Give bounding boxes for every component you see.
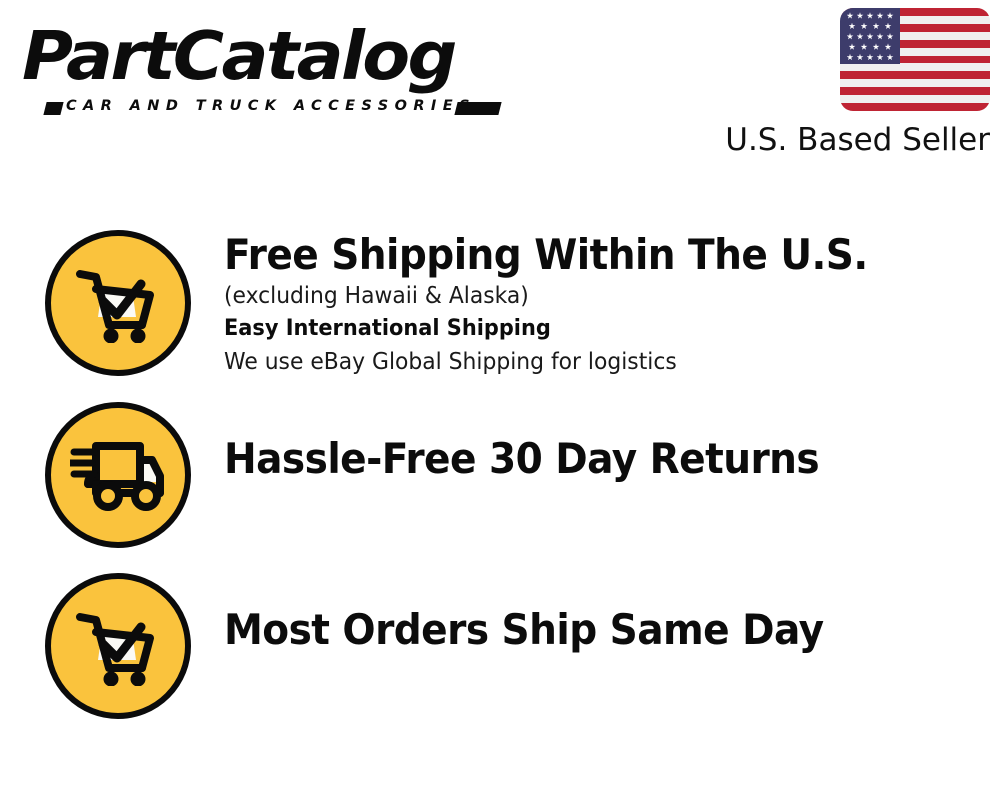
flag-star bbox=[861, 23, 868, 30]
feature-text-block: Free Shipping Within The U.S. (excluding… bbox=[224, 230, 1000, 378]
shopping-cart-check-icon bbox=[45, 230, 191, 376]
flag-star bbox=[873, 43, 880, 50]
flag-star bbox=[887, 12, 894, 19]
flag-star bbox=[867, 33, 874, 40]
flag-star bbox=[885, 43, 892, 50]
brand-wordmark: PartCatalog bbox=[22, 20, 511, 92]
feature-row: Hassle-Free 30 Day Returns bbox=[0, 402, 1000, 548]
flag-star bbox=[867, 54, 874, 61]
feature-title: Most Orders Ship Same Day bbox=[224, 605, 946, 655]
feature-row: Free Shipping Within The U.S. (excluding… bbox=[0, 230, 1000, 378]
flag-star bbox=[857, 54, 864, 61]
feature-title: Free Shipping Within The U.S. bbox=[224, 230, 946, 280]
brand-tagline: CAR AND TRUCK ACCESSORIES bbox=[66, 98, 476, 114]
flag-star bbox=[877, 12, 884, 19]
feature-row: Most Orders Ship Same Day bbox=[0, 573, 1000, 719]
shopping-cart-check-icon bbox=[45, 573, 191, 719]
feature-text-block: Most Orders Ship Same Day bbox=[224, 573, 1000, 655]
page-header: PartCatalog CAR AND TRUCK ACCESSORIES bbox=[0, 0, 1000, 175]
feature-subhead: Easy International Shipping bbox=[224, 312, 961, 346]
us-based-seller-badge: U.S. Based Seller bbox=[710, 8, 990, 157]
feature-subtext: We use eBay Global Shipping for logistic… bbox=[224, 346, 961, 378]
flag-star bbox=[847, 12, 854, 19]
flag-star bbox=[873, 23, 880, 30]
flag-star bbox=[861, 43, 868, 50]
feature-title: Hassle-Free 30 Day Returns bbox=[224, 434, 946, 484]
seller-label: U.S. Based Seller bbox=[710, 123, 990, 157]
logo-rule-left bbox=[43, 102, 63, 115]
us-flag-icon bbox=[840, 8, 990, 111]
flag-star bbox=[877, 33, 884, 40]
feature-note: (excluding Hawaii & Alaska) bbox=[224, 280, 961, 312]
flag-canton bbox=[840, 8, 900, 64]
flag-star bbox=[887, 54, 894, 61]
flag-star bbox=[867, 12, 874, 19]
flag-star bbox=[887, 33, 894, 40]
flag-star bbox=[857, 12, 864, 19]
flag-star bbox=[857, 33, 864, 40]
flag-star bbox=[849, 23, 856, 30]
feature-text-block: Hassle-Free 30 Day Returns bbox=[224, 402, 1000, 484]
flag-star bbox=[877, 54, 884, 61]
flag-star bbox=[847, 54, 854, 61]
brand-logo[interactable]: PartCatalog CAR AND TRUCK ACCESSORIES bbox=[22, 20, 492, 120]
flag-star bbox=[885, 23, 892, 30]
flag-star bbox=[847, 33, 854, 40]
delivery-truck-icon bbox=[45, 402, 191, 548]
flag-star bbox=[849, 43, 856, 50]
